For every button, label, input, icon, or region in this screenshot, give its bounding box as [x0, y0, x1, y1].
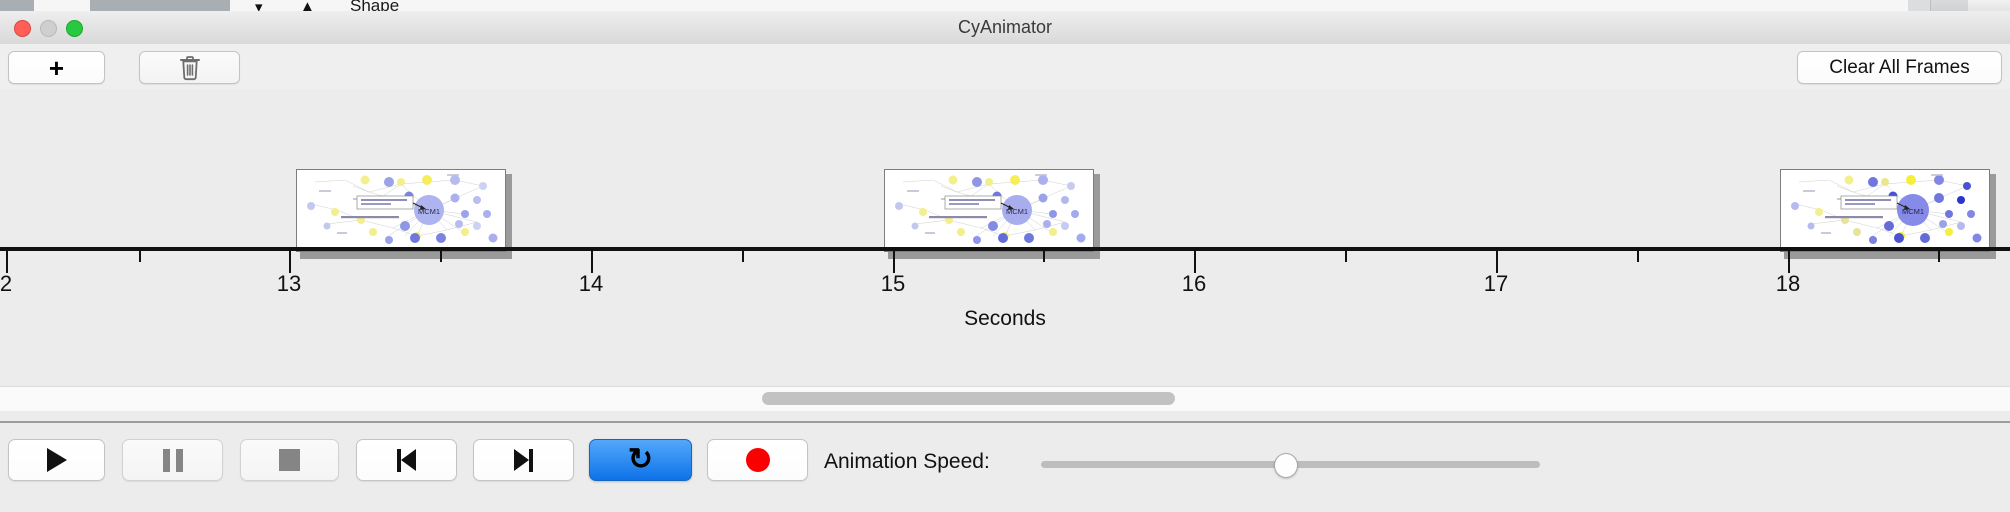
- svg-text:MCM1: MCM1: [418, 207, 440, 216]
- tick-minor: [742, 251, 744, 262]
- network-thumbnail: MCM1: [884, 169, 1094, 252]
- tick-major: [893, 251, 895, 273]
- play-button[interactable]: [8, 439, 105, 481]
- tick-label: 13: [277, 271, 301, 297]
- tick-minor: [1938, 251, 1940, 262]
- frame-thumbnail-2[interactable]: MCM1: [884, 169, 1096, 254]
- background-window-label: Shape: [350, 0, 399, 11]
- record-icon: [746, 448, 770, 472]
- animation-speed-slider[interactable]: [1041, 461, 1540, 468]
- timeline-ruler: [0, 247, 2010, 251]
- tick-label: 2: [0, 271, 12, 297]
- timeline-scrollbar-track[interactable]: [0, 386, 2010, 411]
- tick-major: [1788, 251, 1790, 273]
- toolbar: + Clear All Frames: [0, 44, 2010, 90]
- frame-strip: MCM1: [0, 89, 2010, 247]
- tick-minor: [1637, 251, 1639, 262]
- skip-to-start-button[interactable]: [356, 439, 457, 481]
- delete-frame-button[interactable]: [139, 51, 240, 84]
- cyanimator-window: ▾ ▲ Shape CyAnimator + Clear All Frames: [0, 0, 2010, 510]
- timeline-scrollbar-thumb[interactable]: [762, 392, 1175, 405]
- tick-label: 16: [1182, 271, 1206, 297]
- loop-icon: ↻: [628, 445, 653, 475]
- title-bar: CyAnimator: [0, 11, 2010, 45]
- tick-label: 18: [1776, 271, 1800, 297]
- play-icon: [47, 448, 67, 472]
- animation-speed-slider-thumb[interactable]: [1274, 453, 1298, 478]
- stop-button[interactable]: [240, 439, 339, 481]
- tick-label: 14: [579, 271, 603, 297]
- trash-icon: [179, 55, 201, 81]
- frame-thumbnail-3[interactable]: MCM1: [1780, 169, 1992, 254]
- tick-minor: [1043, 251, 1045, 262]
- skip-back-icon: [397, 449, 416, 472]
- pause-icon: [163, 449, 183, 472]
- network-thumbnail: MCM1: [296, 169, 506, 252]
- loop-button[interactable]: ↻: [589, 439, 692, 481]
- pause-button[interactable]: [122, 439, 223, 481]
- tick-major: [1496, 251, 1498, 273]
- tick-label: 17: [1484, 271, 1508, 297]
- network-thumbnail: MCM1: [1780, 169, 1990, 252]
- playback-control-bar: ↻ Animation Speed:: [0, 421, 2010, 512]
- tick-major: [1194, 251, 1196, 273]
- skip-to-end-button[interactable]: [473, 439, 574, 481]
- tick-major: [289, 251, 291, 273]
- svg-text:MCM1: MCM1: [1006, 207, 1028, 216]
- background-window-strip: ▾ ▲ Shape: [0, 0, 2010, 11]
- clear-all-frames-button[interactable]: Clear All Frames: [1797, 51, 2002, 84]
- tick-minor: [139, 251, 141, 262]
- svg-text:MCM1: MCM1: [1902, 207, 1924, 216]
- tick-minor: [1345, 251, 1347, 262]
- frame-thumbnail-1[interactable]: MCM1: [296, 169, 508, 254]
- tick-label: 15: [881, 271, 905, 297]
- tick-minor: [440, 251, 442, 262]
- record-button[interactable]: [707, 439, 808, 481]
- axis-title: Seconds: [0, 307, 2010, 331]
- stop-icon: [279, 449, 300, 471]
- animation-speed-label: Animation Speed:: [824, 450, 990, 474]
- tick-major: [6, 251, 8, 273]
- add-frame-button[interactable]: +: [8, 51, 105, 84]
- skip-forward-icon: [514, 449, 533, 472]
- window-title: CyAnimator: [0, 11, 2010, 44]
- tick-major: [591, 251, 593, 273]
- timeline-panel[interactable]: MCM1: [0, 89, 2010, 419]
